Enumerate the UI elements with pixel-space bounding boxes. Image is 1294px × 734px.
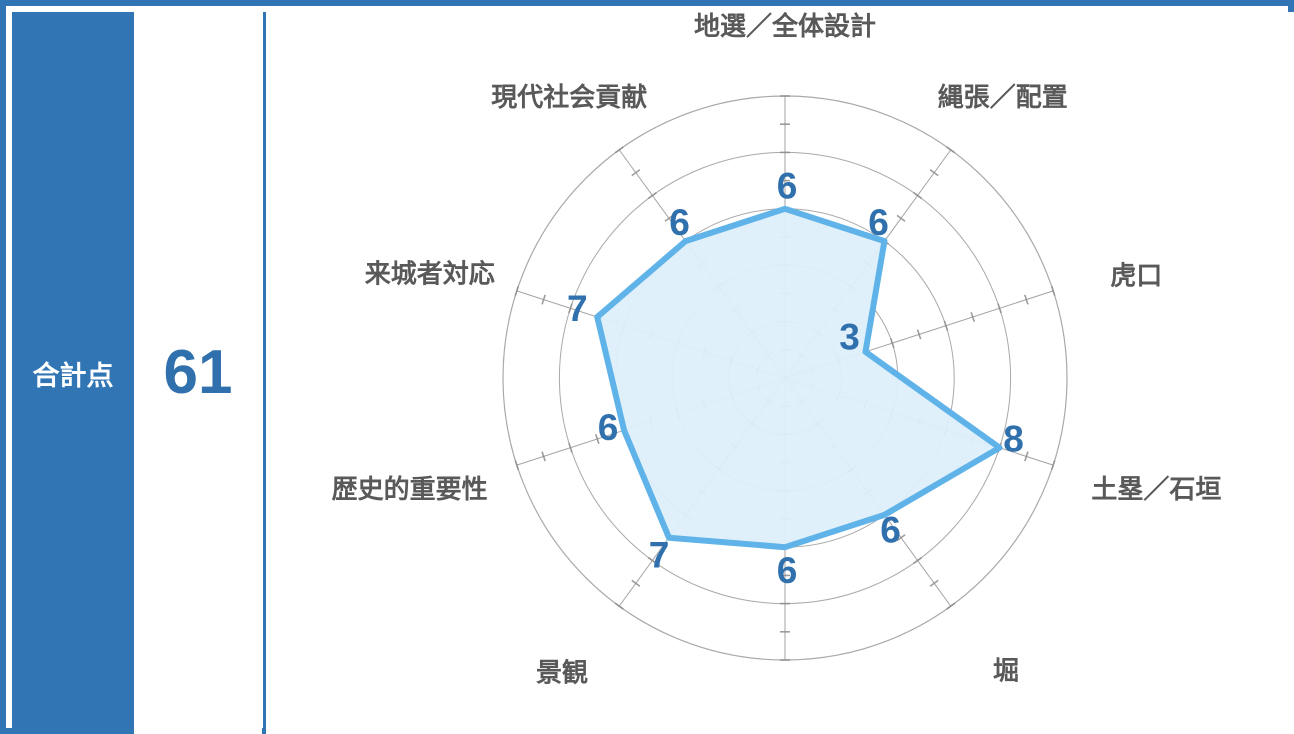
radar-axis-label: 縄張／配置 <box>938 82 1068 112</box>
radar-value-label: 6 <box>669 202 690 243</box>
radar-value-label: 3 <box>839 317 860 358</box>
radar-value-label: 8 <box>1003 418 1024 459</box>
radar-value-label: 6 <box>777 550 798 591</box>
total-score-value: 61 <box>164 342 233 404</box>
radar-axis-label: 景観 <box>536 658 588 688</box>
total-score-panel: 61 <box>134 12 262 734</box>
radar-value-label: 7 <box>567 288 588 329</box>
radar-chart-area: 地選／全体設計縄張／配置虎口土塁／石垣堀建造物景観歴史的重要性来城者対応現代社会… <box>266 12 1294 734</box>
radar-value-label: 7 <box>649 534 670 575</box>
radar-axis-label: 堀 <box>993 656 1019 686</box>
radar-series <box>597 209 999 547</box>
slide-card-frame: 合計点 61 地選／全体設計縄張／配置虎口土塁／石垣堀建造物景観歴史的重要性来城… <box>0 0 1294 734</box>
radar-axis-label: 虎口 <box>1110 261 1162 291</box>
radar-chart: 地選／全体設計縄張／配置虎口土塁／石垣堀建造物景観歴史的重要性来城者対応現代社会… <box>266 12 1294 734</box>
radar-axis-label: 地選／全体設計 <box>694 12 876 41</box>
radar-axis-label: 来城者対応 <box>365 259 495 289</box>
radar-value-label: 6 <box>777 166 798 207</box>
radar-value-label: 6 <box>868 202 889 243</box>
radar-value-label: 6 <box>880 510 901 551</box>
radar-axis-label: 現代社会貢献 <box>491 82 647 112</box>
slide-canvas: 合計点 61 地選／全体設計縄張／配置虎口土塁／石垣堀建造物景観歴史的重要性来城… <box>0 0 1294 734</box>
radar-axis-label: 歴史的重要性 <box>332 474 488 504</box>
total-score-caption: 合計点 <box>33 354 114 393</box>
radar-series-area <box>597 209 999 547</box>
total-score-band: 合計点 <box>12 12 134 734</box>
radar-axis-label: 土塁／石垣 <box>1091 474 1221 504</box>
radar-value-label: 6 <box>598 407 619 448</box>
